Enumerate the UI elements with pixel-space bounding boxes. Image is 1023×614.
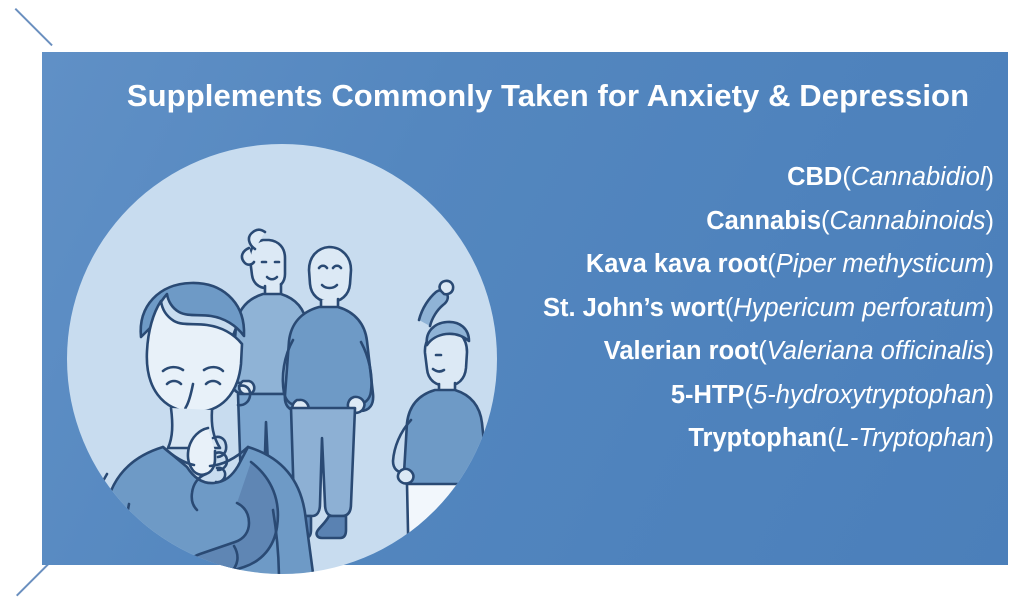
paren-close: ) [986, 337, 995, 365]
paren-open: ( [842, 163, 851, 191]
supplement-common-name: St. John’s wort [543, 294, 725, 322]
slide-root: Supplements Commonly Taken for Anxiety &… [0, 0, 1023, 603]
content-panel: Supplements Commonly Taken for Anxiety &… [42, 52, 1008, 565]
supplement-common-name: Valerian root [604, 337, 758, 365]
paren-open: ( [745, 381, 754, 409]
paren-open: ( [725, 294, 734, 322]
supplement-scientific-name: Valeriana officinalis [767, 337, 986, 365]
list-item: St. John’s wort(Hypericum perforatum) [434, 287, 994, 331]
paren-open: ( [821, 207, 830, 235]
supplement-common-name: Kava kava root [586, 250, 767, 278]
list-item: 5-HTP(5-hydroxytryptophan) [434, 374, 994, 418]
supplement-common-name: Cannabis [706, 207, 821, 235]
supplement-scientific-name: Cannabidiol [851, 163, 986, 191]
page-title: Supplements Commonly Taken for Anxiety &… [42, 78, 1008, 114]
paren-open: ( [827, 424, 836, 452]
supplement-common-name: CBD [787, 163, 842, 191]
list-item: Tryptophan(L-Tryptophan) [434, 417, 994, 461]
supplement-scientific-name: Hypericum perforatum [733, 294, 985, 322]
paren-close: ) [986, 381, 995, 409]
paren-close: ) [986, 294, 995, 322]
paren-open: ( [767, 250, 776, 278]
list-item: CBD(Cannabidiol) [434, 156, 994, 200]
supplement-common-name: 5-HTP [671, 381, 745, 409]
supplement-scientific-name: 5-hydroxytryptophan [753, 381, 985, 409]
supplement-scientific-name: Cannabinoids [830, 207, 986, 235]
list-item: Valerian root(Valeriana officinalis) [434, 330, 994, 374]
supplement-scientific-name: Piper methysticum [776, 250, 986, 278]
paren-close: ) [986, 250, 995, 278]
paren-close: ) [986, 207, 995, 235]
supplements-list: CBD(Cannabidiol) Cannabis(Cannabinoids) … [434, 156, 994, 461]
illustration-clip [67, 144, 497, 574]
list-item: Cannabis(Cannabinoids) [434, 200, 994, 244]
corner-accent-top-left [15, 8, 53, 46]
paren-open: ( [758, 337, 767, 365]
paren-close: ) [986, 163, 995, 191]
supplement-scientific-name: L-Tryptophan [836, 424, 986, 452]
list-item: Kava kava root(Piper methysticum) [434, 243, 994, 287]
paren-close: ) [986, 424, 995, 452]
supplement-common-name: Tryptophan [688, 424, 827, 452]
